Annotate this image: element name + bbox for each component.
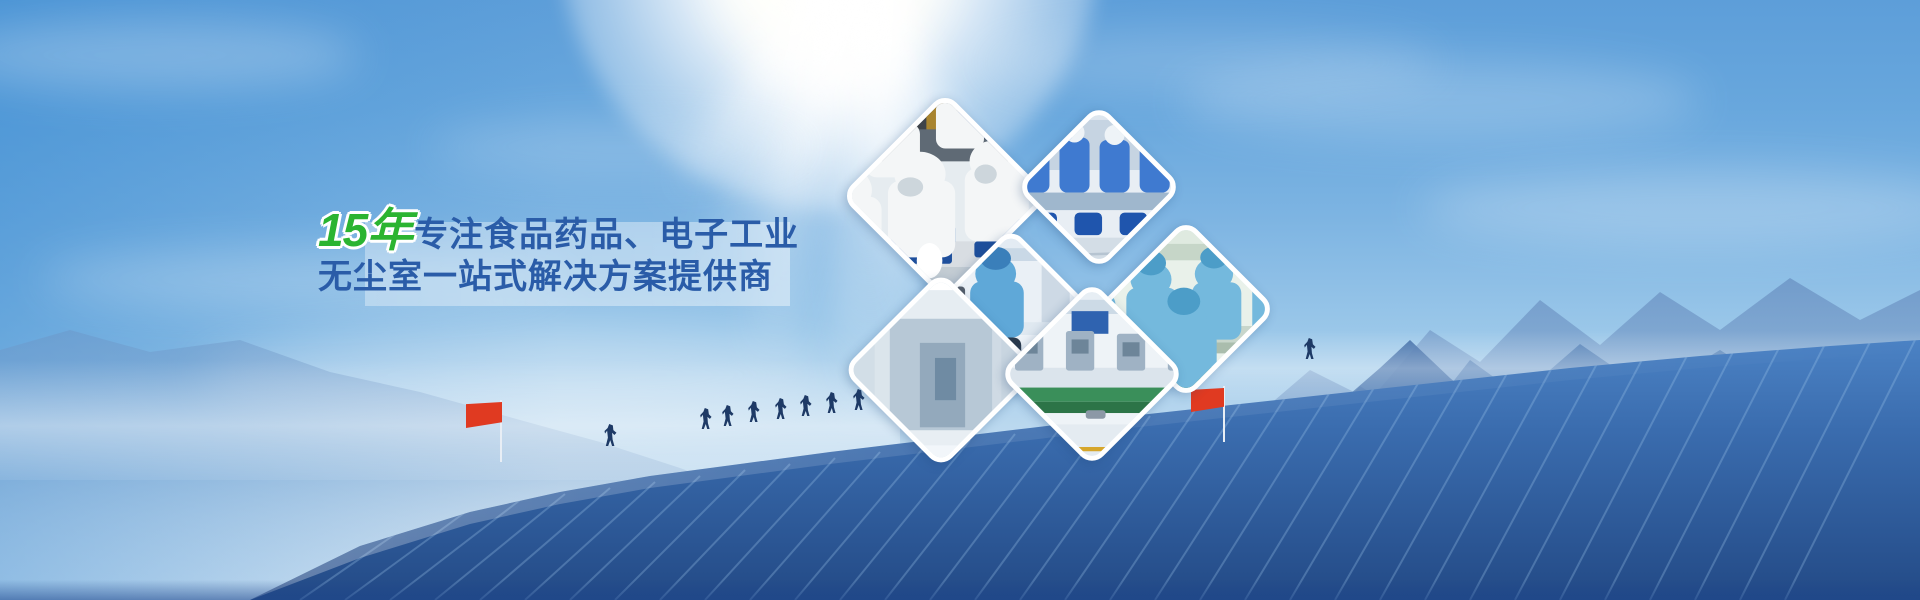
- bottom-shadow-band: [0, 580, 1920, 600]
- years-badge: 15年: [318, 207, 412, 254]
- hero-banner: 15年 专注食品药品、电子工业 无尘室一站式解决方案提供商: [0, 0, 1920, 600]
- headline-line-1-text: 专注食品药品、电子工业: [414, 218, 799, 253]
- headline-line-2: 无尘室一站式解决方案提供商: [318, 260, 838, 295]
- headline-line-1: 15年 专注食品药品、电子工业: [318, 207, 838, 254]
- photo-collage: [0, 0, 1920, 600]
- headline-block: 15年 专注食品药品、电子工业 无尘室一站式解决方案提供商: [318, 196, 838, 306]
